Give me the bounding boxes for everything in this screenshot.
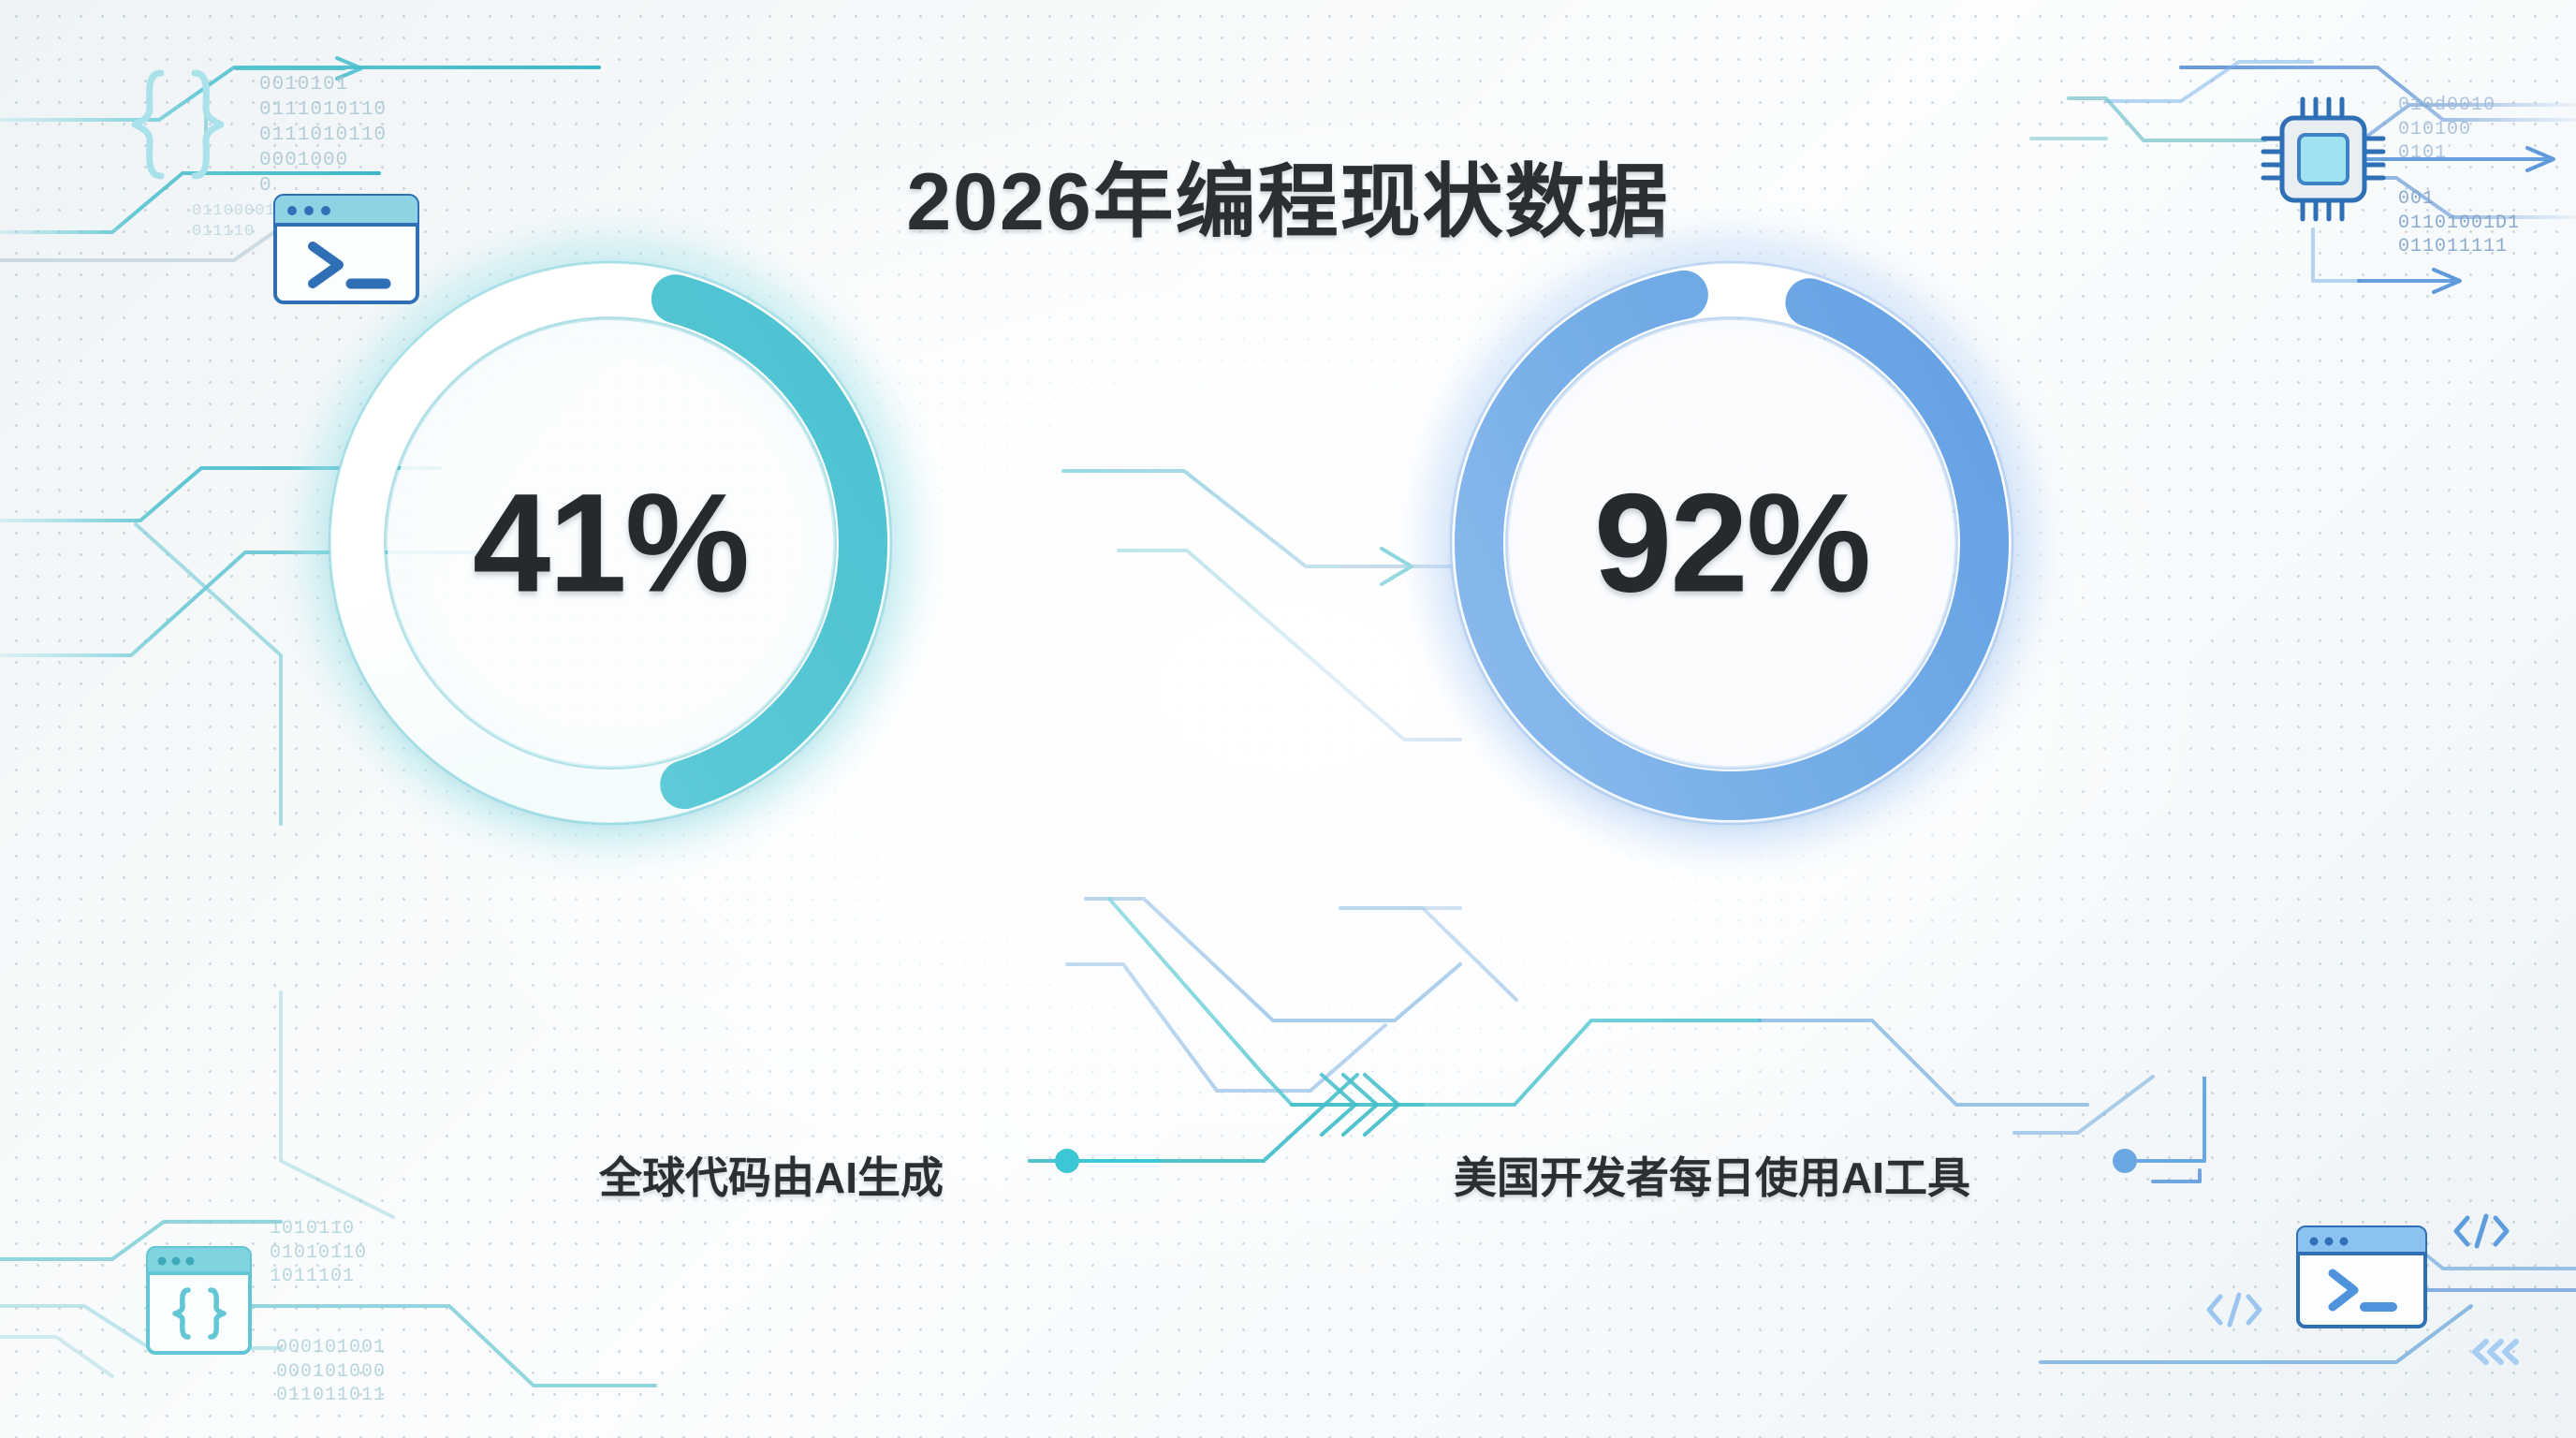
code-tag-icon-bottom-right-upper — [2452, 1211, 2510, 1251]
braces-icon-top-left — [122, 64, 234, 185]
code-tag-icon-bottom-right-lower — [2204, 1289, 2264, 1330]
cpu-chip-icon-top-right — [2258, 94, 2389, 225]
terminal-window-icon-top-left — [271, 192, 421, 306]
binary-text-bottom-left-1: 1010110 01010110 1011101 — [270, 1217, 367, 1289]
binary-text-top-left-2: 01100001 011110 — [192, 201, 276, 242]
infographic-canvas: 2026年编程现状数据 — [0, 0, 2576, 1438]
binary-text-top-right-1: 010d0010 010100 0101 — [2398, 94, 2495, 166]
terminal-window-icon-bottom-right — [2295, 1225, 2428, 1329]
chevrons-left-icon-bottom-right — [2469, 1337, 2522, 1367]
binary-text-top-left-1: 0010101 0111010110 0111010110 0001000 0 — [259, 73, 387, 198]
binary-text-bottom-left-2: 000101001 000101000 011011011 — [276, 1336, 386, 1408]
code-window-icon-bottom-left — [145, 1245, 253, 1356]
caption-dot-right — [2113, 1149, 2137, 1173]
binary-text-top-right-2: 001 01101001D1 011011111 — [2398, 187, 2520, 259]
